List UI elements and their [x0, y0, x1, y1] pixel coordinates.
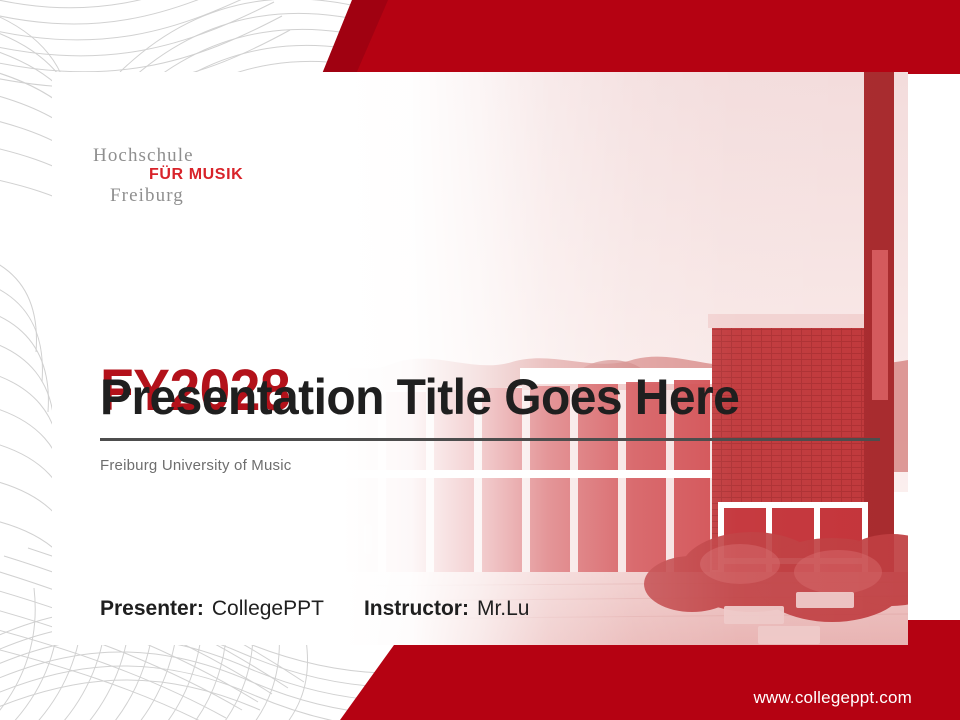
logo-line-freiburg: Freiburg: [110, 185, 184, 207]
footer-website-url[interactable]: www.collegeppt.com: [753, 688, 912, 708]
top-red-banner: [0, 0, 960, 78]
presenter-name: CollegePPT: [212, 597, 324, 621]
title-divider: [100, 438, 880, 441]
presenter-pair: Presenter: CollegePPT: [100, 597, 324, 621]
presenter-label: Presenter:: [100, 597, 204, 621]
slide-content-card: Hochschule FÜR MUSIK Freiburg FY2028 Pre…: [52, 72, 908, 645]
logo-line-fuer-musik: FÜR MUSIK: [149, 166, 243, 184]
page-subtitle: Freiburg University of Music: [100, 457, 291, 474]
presentation-slide: www.collegeppt.com: [0, 0, 960, 720]
page-title: Presentation Title Goes Here: [100, 372, 739, 422]
university-logo: Hochschule FÜR MUSIK Freiburg: [93, 145, 283, 207]
instructor-label: Instructor:: [364, 597, 469, 621]
card-text-content: Hochschule FÜR MUSIK Freiburg FY2028 Pre…: [52, 72, 908, 645]
logo-line-hochschule: Hochschule: [93, 145, 194, 167]
instructor-pair: Instructor: Mr.Lu: [364, 597, 530, 621]
presenter-instructor-row: Presenter: CollegePPT Instructor: Mr.Lu: [100, 597, 529, 621]
instructor-name: Mr.Lu: [477, 597, 530, 621]
